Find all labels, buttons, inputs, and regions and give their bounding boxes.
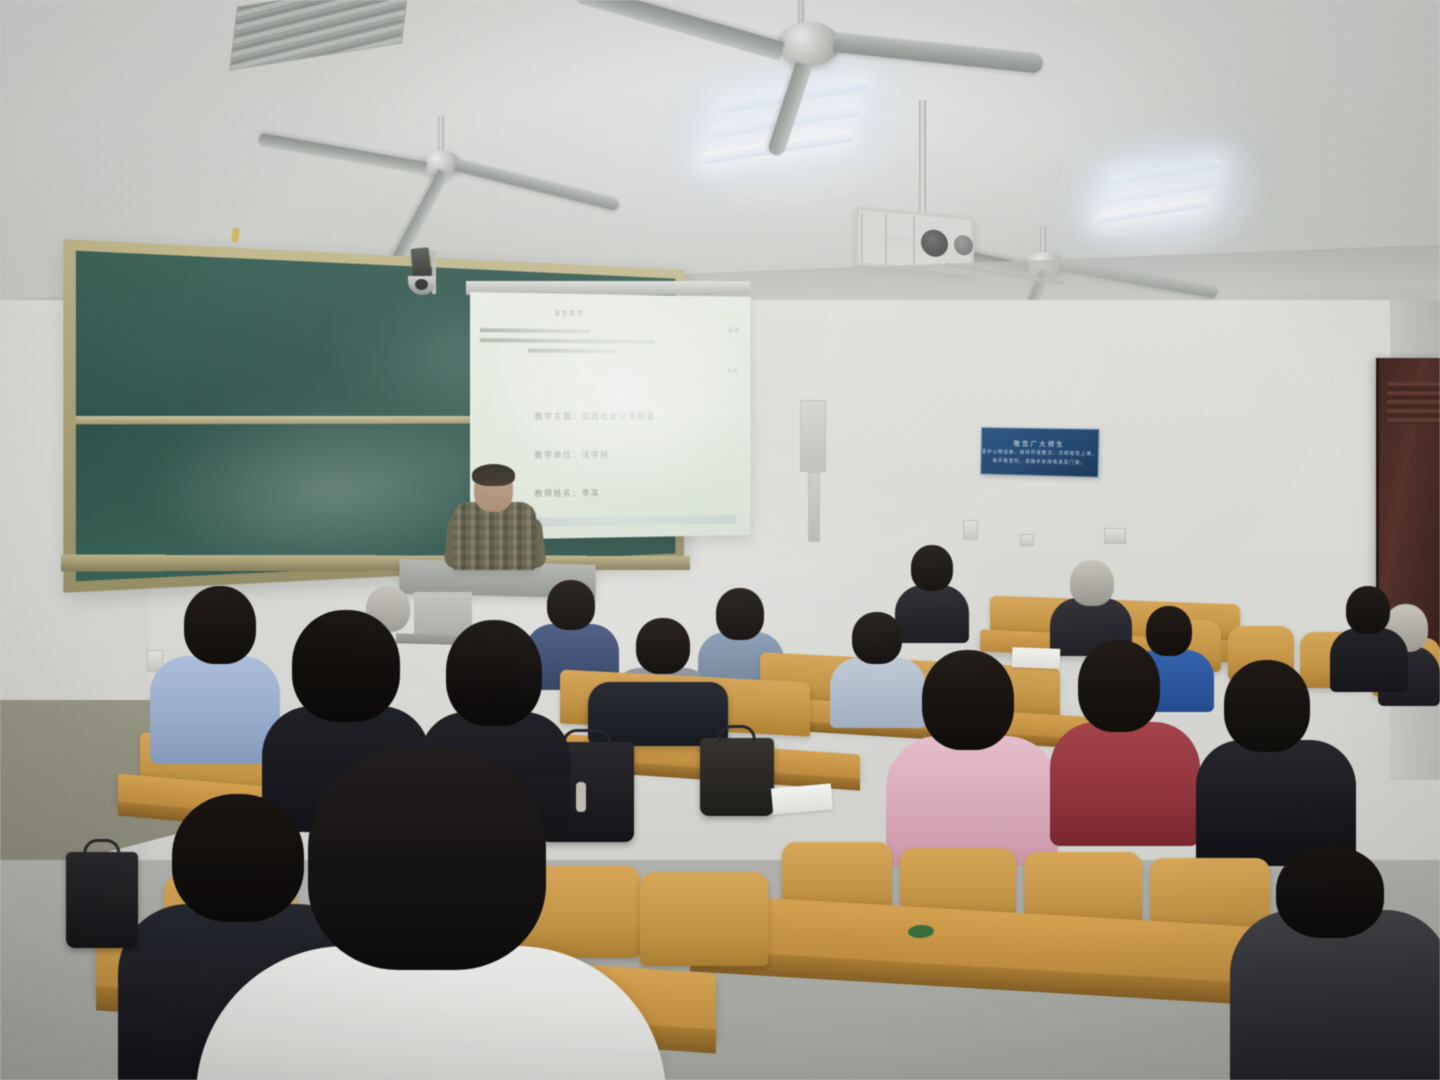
person-grey-hair-back <box>1050 560 1132 650</box>
person-head <box>636 618 690 674</box>
person-head <box>716 588 764 640</box>
paper-stack-bench <box>771 783 833 814</box>
wall-clip-icon <box>231 228 239 243</box>
presenter-hair <box>472 464 515 486</box>
wall-socket[interactable] <box>963 520 978 540</box>
fan-rod <box>1040 226 1046 254</box>
slide-corner-note-2: 课件 <box>727 368 740 375</box>
person-head <box>922 650 1014 750</box>
handbag-black-right[interactable] <box>700 738 774 816</box>
person-dark-grey-back <box>1230 846 1440 1080</box>
light-panel-right <box>1091 155 1239 238</box>
person-head <box>446 620 542 726</box>
door-louver-vent <box>1387 382 1440 424</box>
person-body <box>1050 722 1200 846</box>
wall-panel-box[interactable] <box>800 400 826 472</box>
cage-bars <box>861 212 915 267</box>
projector-lens-icon <box>921 229 948 258</box>
person-head <box>1078 640 1160 732</box>
notice-sign: 敬告广大师生 爱护公物设施，保持环境整洁，文明规范上课， 离开教室时，请随手关闭… <box>980 427 1099 478</box>
person-head <box>308 746 546 970</box>
projector-aux-lens-icon <box>954 234 973 256</box>
slide-body: 教学主题：实践社会义务教育 教学单位：法学院 教师姓名：李某 <box>535 410 737 526</box>
person-pink-hoodie <box>886 650 1058 860</box>
slide-corner-note-1: 投影 <box>729 327 742 334</box>
security-camera-icon <box>411 247 432 277</box>
person-black-puffer <box>1196 660 1356 860</box>
slide-line: 教学主题：实践社会义务教育 <box>535 410 737 422</box>
person-head <box>1224 660 1310 752</box>
person-head <box>1276 846 1384 938</box>
chalkboard-tray <box>61 555 690 572</box>
handbag-handle <box>83 839 120 856</box>
presenter-torso <box>452 502 536 570</box>
person-head <box>1346 586 1390 634</box>
handbag-handle <box>718 725 756 742</box>
wall-socket[interactable] <box>1104 528 1126 544</box>
person-head <box>1070 560 1114 606</box>
person-head <box>911 545 953 591</box>
person-body <box>886 736 1058 866</box>
handbag-hanging-left[interactable] <box>66 852 138 948</box>
person-head <box>292 610 400 722</box>
fan-rod <box>438 116 444 152</box>
presenter <box>452 462 536 567</box>
notice-sign-title: 敬告广大师生 <box>1014 438 1066 449</box>
wall-socket[interactable] <box>1020 534 1034 546</box>
person-head <box>184 586 256 664</box>
projector-mount-rod <box>919 100 926 212</box>
person-blue-shirt-left <box>150 586 280 756</box>
fan-rod <box>798 0 804 24</box>
person-white-shirt-foreground <box>196 746 666 1080</box>
wall-conduit <box>808 472 820 542</box>
notice-sign-line: 爱护公物设施，保持环境整洁，文明规范上课， <box>982 449 1098 458</box>
person-red-jacket <box>1050 640 1200 840</box>
cage-bar <box>885 214 887 264</box>
slide-line: 教学单位：法学院 <box>535 448 737 461</box>
classroom-photo-scene: 课堂教学 投影 课件 教学主题：实践社会义务教育 教学单位：法学院 教师姓名：李… <box>0 0 1440 1080</box>
slide-header-lines <box>480 314 662 359</box>
slide-header-watermark: 课堂教学 <box>554 308 585 317</box>
slide-line: 教师姓名：李某 <box>535 485 737 499</box>
fan-hub <box>778 22 840 66</box>
notice-sign-line: 离开教室时，请随手关闭电源及门窗。 <box>992 458 1086 467</box>
